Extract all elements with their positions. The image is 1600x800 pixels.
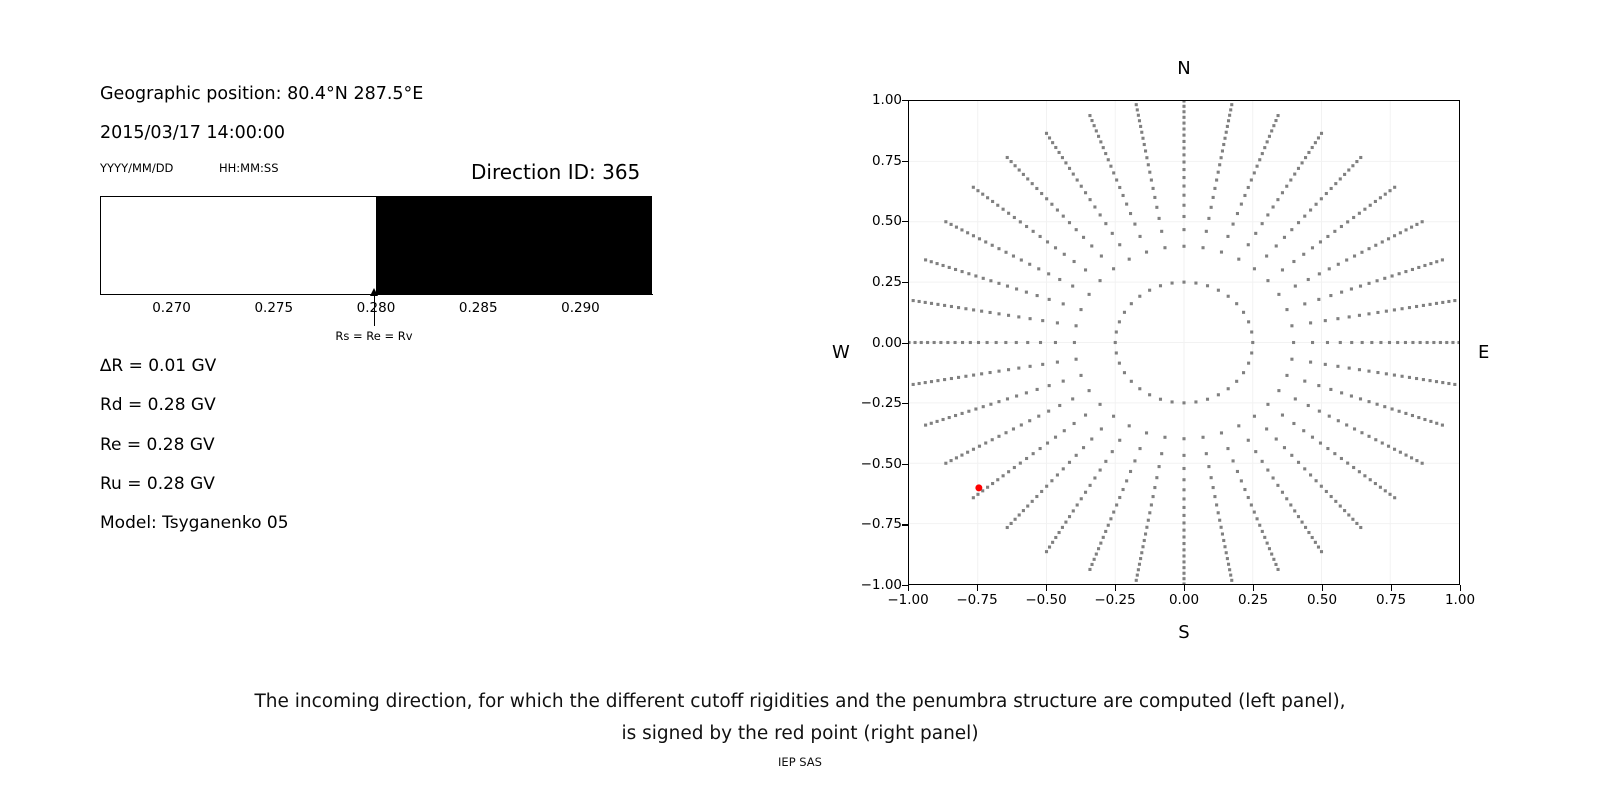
sky-x-tick-mark — [1046, 585, 1047, 591]
sky-y-tick-label: 0.00 — [872, 335, 902, 351]
sky-x-tick-mark — [1115, 585, 1116, 591]
sky-x-tick-label: 0.00 — [1169, 592, 1199, 608]
rigidity-parameter: Rd = 0.28 GV — [100, 395, 216, 415]
sky-y-tick-label: −0.25 — [861, 395, 902, 411]
sky-x-tick-label: −0.50 — [1025, 592, 1066, 608]
sky-y-tick-label: −0.75 — [861, 516, 902, 532]
sky-x-tick-label: 0.75 — [1376, 592, 1406, 608]
geographic-position-label: Geographic position: 80.4°N 287.5°E — [100, 84, 423, 104]
sky-x-tick-label: −1.00 — [887, 592, 928, 608]
rigidity-parameter: Model: Tsyganenko 05 — [100, 513, 289, 533]
cutoff-marker-arrow-icon — [370, 288, 378, 296]
compass-label-west: W — [832, 342, 850, 363]
penumbra-tick-label: 0.280 — [357, 300, 396, 316]
sky-y-tick-label: −0.50 — [861, 456, 902, 472]
sky-x-tick-mark — [1253, 585, 1254, 591]
caption-line-2: is signed by the red point (right panel) — [0, 718, 1600, 750]
sky-scatter-canvas — [909, 101, 1459, 584]
sky-x-tick-label: 0.50 — [1307, 592, 1337, 608]
sky-y-tick-mark — [902, 464, 908, 465]
caption-line-1: The incoming direction, for which the di… — [0, 686, 1600, 718]
rigidity-parameter: Re = 0.28 GV — [100, 435, 215, 455]
penumbra-tick-label: 0.285 — [459, 300, 498, 316]
sky-y-tick-label: 1.00 — [872, 92, 902, 108]
sky-x-tick-mark — [1322, 585, 1323, 591]
sky-y-tick-label: 0.25 — [872, 274, 902, 290]
datetime-label: 2015/03/17 14:00:00 — [100, 123, 285, 143]
sky-x-tick-mark — [977, 585, 978, 591]
sky-x-tick-label: 1.00 — [1445, 592, 1475, 608]
sky-y-tick-mark — [902, 161, 908, 162]
sky-x-tick-mark — [1184, 585, 1185, 591]
sky-y-tick-label: 0.75 — [872, 153, 902, 169]
compass-label-south: S — [1178, 622, 1189, 643]
rigidity-parameter: ∆R = 0.01 GV — [100, 356, 216, 376]
sky-gridlines — [909, 101, 1459, 584]
sky-plot-axes — [908, 100, 1460, 585]
cutoff-marker-line — [374, 292, 375, 326]
sky-y-tick-mark — [902, 524, 908, 525]
sky-y-tick-mark — [902, 343, 908, 344]
sky-direction-plot: N S W E −1.00−1.00−0.75−0.75−0.50−0.50−0… — [820, 40, 1520, 660]
sky-y-tick-label: −1.00 — [861, 577, 902, 593]
sky-x-tick-label: −0.75 — [956, 592, 997, 608]
time-format-hint: HH:MM:SS — [219, 161, 279, 175]
sky-y-tick-label: 0.50 — [872, 213, 902, 229]
compass-label-east: E — [1478, 342, 1489, 363]
sky-y-tick-mark — [902, 403, 908, 404]
penumbra-tick-label: 0.270 — [152, 300, 191, 316]
penumbra-tick-label: 0.290 — [561, 300, 600, 316]
penumbra-forbidden-band — [376, 197, 651, 294]
selected-direction-point — [975, 484, 982, 491]
penumbra-structure-bar — [100, 196, 652, 295]
left-panel: Geographic position: 80.4°N 287.5°E 2015… — [0, 0, 780, 680]
sky-x-tick-label: 0.25 — [1238, 592, 1268, 608]
rigidity-parameter: Ru = 0.28 GV — [100, 474, 215, 494]
direction-id-label: Direction ID: 365 — [471, 160, 640, 184]
sky-y-tick-mark — [902, 282, 908, 283]
sky-y-tick-mark — [902, 221, 908, 222]
sky-y-tick-mark — [902, 100, 908, 101]
figure-caption: The incoming direction, for which the di… — [0, 686, 1600, 750]
compass-label-north: N — [1177, 58, 1190, 79]
sky-x-tick-mark — [1460, 585, 1461, 591]
penumbra-tick-label: 0.275 — [254, 300, 293, 316]
date-format-hint: YYYY/MM/DD — [100, 161, 173, 175]
sky-x-tick-mark — [908, 585, 909, 591]
sky-x-tick-label: −0.25 — [1094, 592, 1135, 608]
sky-x-tick-mark — [1391, 585, 1392, 591]
footer-credit: IEP SAS — [0, 755, 1600, 769]
penumbra-allowed-band — [101, 197, 376, 294]
cutoff-marker-label: Rs = Re = Rv — [335, 329, 412, 343]
